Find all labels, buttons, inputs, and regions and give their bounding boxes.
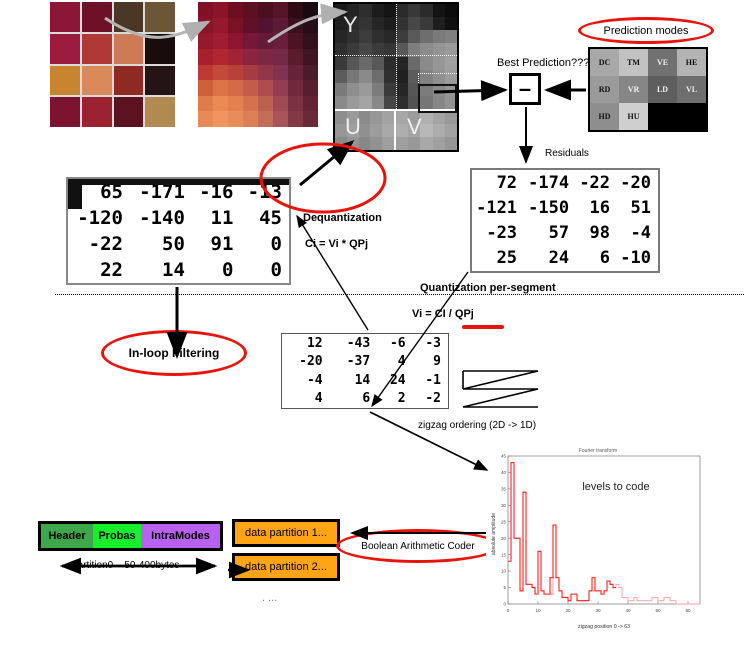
zigzag-ordering-label: zigzag ordering (2D -> 1D) xyxy=(418,420,536,431)
svg-text:5: 5 xyxy=(504,585,507,590)
yuv-label-v: V xyxy=(407,114,422,140)
partition0-bar: Header Probas IntraModes xyxy=(38,521,223,551)
prediction-mode-empty-1 xyxy=(648,103,677,130)
source-macroblock-photo xyxy=(50,2,175,127)
chart-ylabel: absolute amplitude xyxy=(491,513,497,555)
prediction-mode-rd[interactable]: RD xyxy=(590,76,619,103)
matrix-cell: 22 xyxy=(68,257,130,283)
table-row: 12 -43 -6 -3 xyxy=(282,334,448,353)
dequantized-matrix: 65 -171 -16 -13 -120 -140 11 45 -22 50 9… xyxy=(66,177,291,285)
prediction-mode-label: VL xyxy=(686,85,697,94)
matrix-cell: -1 xyxy=(413,371,448,390)
matrix-cell: -10 xyxy=(617,246,658,271)
matrix-cell: -121 xyxy=(472,195,524,220)
prediction-modes-grid: DC TM VE HE RD VR LD VL HD HU xyxy=(588,47,708,132)
matrix-cell: 0 xyxy=(192,257,241,283)
yuv-panel: Y U V xyxy=(333,2,459,152)
prediction-mode-ld[interactable]: LD xyxy=(648,76,677,103)
svg-text:45: 45 xyxy=(501,454,506,459)
data-partition-label: data partition 2... xyxy=(245,561,327,573)
matrix-cell: 12 xyxy=(282,334,330,353)
prediction-mode-hd[interactable]: HD xyxy=(590,103,619,130)
matrix-cell: 16 xyxy=(576,195,617,220)
prediction-mode-empty-2 xyxy=(677,103,706,130)
data-partition-1[interactable]: data partition 1... xyxy=(232,519,340,547)
table-row: -22 50 91 0 xyxy=(68,231,289,257)
matrix-cell: -22 xyxy=(576,170,617,195)
svg-text:30: 30 xyxy=(501,503,506,508)
quant-formula: Vi = CI / QPj xyxy=(412,308,474,320)
yuv-label-u: U xyxy=(345,114,361,140)
table-row: 25 24 6 -10 xyxy=(472,246,658,271)
matrix-cell: -140 xyxy=(130,205,192,231)
pixelated-macroblock xyxy=(198,2,318,127)
svg-text:25: 25 xyxy=(501,519,506,524)
prediction-mode-label: TM xyxy=(627,58,640,67)
subblock-highlight xyxy=(418,84,457,113)
matrix-cell: -4 xyxy=(617,221,658,246)
matrix-cell: 4 xyxy=(377,353,412,372)
matrix-cell: 11 xyxy=(192,205,241,231)
table-row: -121 -150 16 51 xyxy=(472,195,658,220)
chart-svg: Fourier transform 0102030405060 05101520… xyxy=(486,444,710,634)
svg-text:0: 0 xyxy=(504,602,507,607)
table-row: 4 6 2 -2 xyxy=(282,390,448,409)
boolean-coder-label: Boolean Arithmetic Coder xyxy=(336,529,500,563)
matrix-top-bar xyxy=(68,179,289,185)
matrix-cell: 14 xyxy=(330,371,378,390)
quant-formula-underline xyxy=(462,325,504,329)
matrix-cell: -6 xyxy=(377,334,412,353)
svg-text:35: 35 xyxy=(501,486,506,491)
svg-text:30: 30 xyxy=(595,608,601,613)
matrix-cell: -150 xyxy=(524,195,576,220)
matrix-cell: 24 xyxy=(524,246,576,271)
matrix-cell: -20 xyxy=(282,353,330,372)
matrix-cell: 6 xyxy=(330,390,378,409)
bitstream-part-probas[interactable]: Probas xyxy=(93,524,141,548)
matrix-cell: 2 xyxy=(377,390,412,409)
dequantization-label: Dequantization xyxy=(303,212,382,224)
chart-annotation: levels to code xyxy=(582,481,649,493)
zigzag-scan-icon xyxy=(463,371,538,407)
partitions-ellipsis: . ... xyxy=(262,592,277,604)
pipeline-divider xyxy=(55,294,744,295)
matrix-cell: -3 xyxy=(413,334,448,353)
table-row: -120 -140 11 45 xyxy=(68,205,289,231)
prediction-mode-label: HE xyxy=(686,58,698,67)
subtract-node: – xyxy=(509,73,541,105)
prediction-mode-ve[interactable]: VE xyxy=(648,49,677,76)
prediction-modes-title: Prediction modes xyxy=(578,17,714,44)
yuv-label-y: Y xyxy=(343,12,358,38)
matrix-cell: 72 xyxy=(472,170,524,195)
chart-xlabel: zigzag position 0 -> 63 xyxy=(578,624,630,630)
arrow-quantized-to-dequantized xyxy=(297,216,368,330)
matrix-cell: -4 xyxy=(282,371,330,390)
matrix-cell: -20 xyxy=(617,170,658,195)
svg-text:10: 10 xyxy=(535,608,541,613)
prediction-mode-hu[interactable]: HU xyxy=(619,103,648,130)
svg-text:20: 20 xyxy=(565,608,571,613)
table-row: -20 -37 4 9 xyxy=(282,353,448,372)
svg-text:20: 20 xyxy=(501,536,506,541)
data-partition-label: data partition 1... xyxy=(245,527,327,539)
prediction-mode-label: RD xyxy=(599,85,611,94)
bitstream-part-label: Header xyxy=(48,530,85,542)
matrix-cell: 0 xyxy=(240,231,289,257)
prediction-mode-dc[interactable]: DC xyxy=(590,49,619,76)
matrix-cell: 45 xyxy=(240,205,289,231)
bitstream-part-label: IntraModes xyxy=(151,530,210,542)
matrix-cell: 24 xyxy=(377,371,412,390)
matrix-cell: -23 xyxy=(472,221,524,246)
matrix-cell: 51 xyxy=(617,195,658,220)
prediction-mode-label: VE xyxy=(657,58,668,67)
levels-histogram-chart: Fourier transform 0102030405060 05101520… xyxy=(486,444,710,634)
prediction-mode-label: VR xyxy=(628,85,640,94)
matrix-cell: -2 xyxy=(413,390,448,409)
bitstream-part-header[interactable]: Header xyxy=(41,524,93,548)
prediction-mode-tm[interactable]: TM xyxy=(619,49,648,76)
svg-text:50: 50 xyxy=(655,608,661,613)
svg-text:60: 60 xyxy=(685,608,691,613)
svg-text:40: 40 xyxy=(625,608,631,613)
matrix-left-bar xyxy=(68,179,82,209)
inloop-filtering-label: In-loop Filtering xyxy=(101,330,247,376)
matrix-cell: -37 xyxy=(330,353,378,372)
residuals-label: Residuals xyxy=(545,148,589,159)
quantization-label: Quantization per-segment xyxy=(420,282,556,294)
chart-y-ticks: 051015202530354045 xyxy=(501,454,511,607)
prediction-mode-label: LD xyxy=(657,85,668,94)
matrix-cell: 98 xyxy=(576,221,617,246)
matrix-cell: 9 xyxy=(413,353,448,372)
table-row: -4 14 24 -1 xyxy=(282,371,448,390)
chart-x-ticks: 0102030405060 xyxy=(507,601,691,613)
svg-text:0: 0 xyxy=(507,608,510,613)
matrix-cell: -22 xyxy=(68,231,130,257)
bitstream-part-intramodes[interactable]: IntraModes xyxy=(141,524,220,548)
bitstream-part-label: Probas xyxy=(98,530,135,542)
matrix-cell: 0 xyxy=(240,257,289,283)
matrix-cell: 57 xyxy=(524,221,576,246)
partition0-size-label: Partition0 – 50-400bytes xyxy=(71,560,179,571)
prediction-mode-label: DC xyxy=(599,58,611,67)
chart-plot-frame xyxy=(508,456,700,604)
matrix-cell: 91 xyxy=(192,231,241,257)
chart-title: Fourier transform xyxy=(579,448,617,454)
svg-text:10: 10 xyxy=(501,569,506,574)
data-partition-2[interactable]: data partition 2... xyxy=(232,553,340,581)
matrix-cell: 4 xyxy=(282,390,330,409)
quantized-matrix: 12 -43 -6 -3 -20 -37 4 9 -4 14 24 -1 4 6… xyxy=(281,333,449,409)
matrix-cell: -43 xyxy=(330,334,378,353)
table-row: -23 57 98 -4 xyxy=(472,221,658,246)
best-prediction-label: Best Prediction??? xyxy=(497,57,589,69)
residuals-matrix: 72 -174 -22 -20 -121 -150 16 51 -23 57 9… xyxy=(470,168,660,273)
prediction-mode-he[interactable]: HE xyxy=(677,49,706,76)
prediction-mode-vr[interactable]: VR xyxy=(619,76,648,103)
prediction-mode-vl[interactable]: VL xyxy=(677,76,706,103)
prediction-mode-label: HD xyxy=(599,112,611,121)
minus-icon: – xyxy=(519,84,531,94)
prediction-mode-label: HU xyxy=(628,112,640,121)
matrix-cell: 50 xyxy=(130,231,192,257)
matrix-cell: 25 xyxy=(472,246,524,271)
dequant-formula: Ci = Vi * QPj xyxy=(305,238,368,250)
matrix-cell: 14 xyxy=(130,257,192,283)
table-row: 22 14 0 0 xyxy=(68,257,289,283)
svg-text:15: 15 xyxy=(501,552,506,557)
svg-text:40: 40 xyxy=(501,470,506,475)
matrix-cell: -174 xyxy=(524,170,576,195)
table-row: 72 -174 -22 -20 xyxy=(472,170,658,195)
matrix-cell: 6 xyxy=(576,246,617,271)
